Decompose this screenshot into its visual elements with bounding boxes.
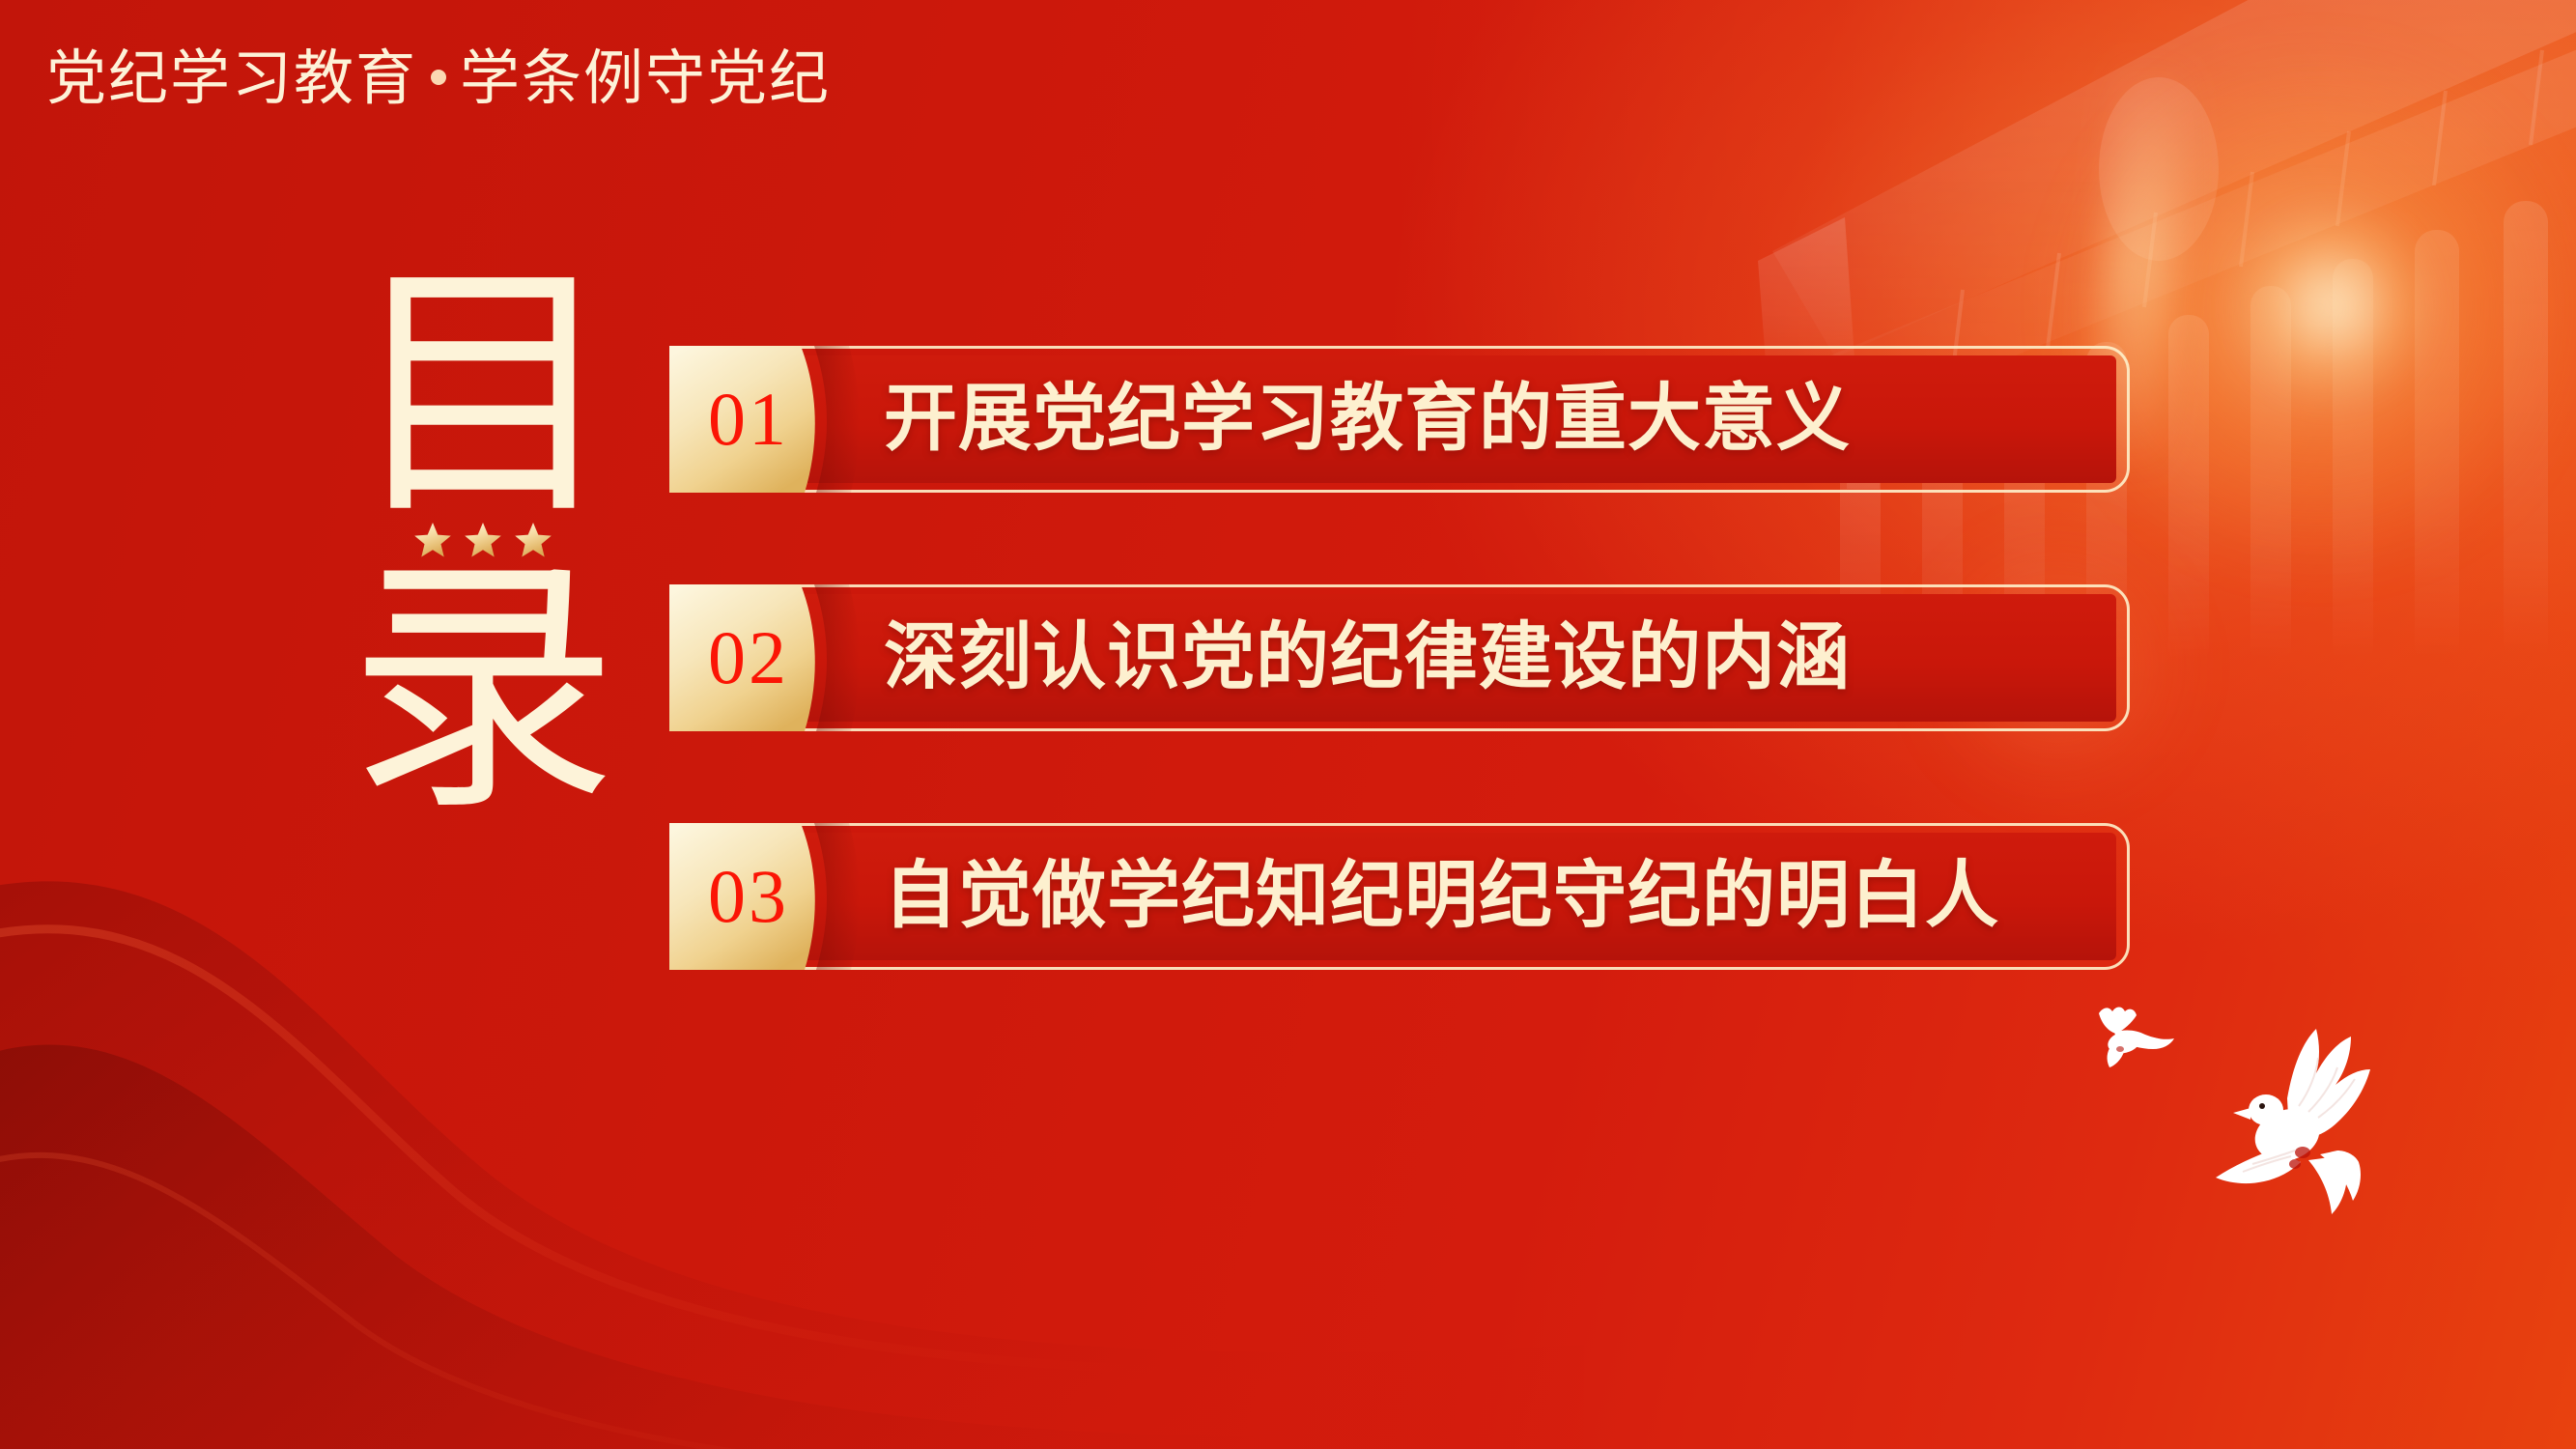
toc-item-number-badge: 02 bbox=[669, 581, 859, 735]
dove-icon bbox=[2081, 1000, 2183, 1087]
light-flare-highlight bbox=[2231, 203, 2434, 406]
mulu-char-lu: 录 bbox=[348, 577, 618, 804]
slide-header: 党纪学习教育学条例守党纪 bbox=[46, 43, 831, 116]
toc-item-number: 03 bbox=[687, 819, 810, 974]
slide-canvas: 党纪学习教育学条例守党纪 目 录 bbox=[0, 0, 2576, 1449]
header-separator-dot bbox=[431, 70, 446, 85]
toc-item-label: 开展党纪学习教育的重大意义 bbox=[884, 346, 1851, 493]
toc-item-number-badge: 03 bbox=[669, 819, 859, 974]
header-title-left: 党纪学习教育 bbox=[46, 45, 417, 112]
toc-item-number-badge: 01 bbox=[669, 342, 859, 497]
header-title: 党纪学习教育学条例守党纪 bbox=[46, 49, 831, 109]
toc-item-02[interactable]: 02 深刻认识党的纪律建设的内涵 bbox=[669, 584, 2130, 731]
toc-item-01[interactable]: 01 开展党纪学习教育的重大意义 bbox=[669, 346, 2130, 493]
toc-item-label: 自觉做学纪知纪明纪守纪的明白人 bbox=[884, 823, 1999, 970]
mulu-char-mu: 目 bbox=[348, 282, 618, 509]
header-title-right: 学条例守党纪 bbox=[460, 45, 831, 112]
toc-item-number: 02 bbox=[687, 581, 810, 735]
toc-item-03[interactable]: 03 自觉做学纪知纪明纪守纪的明白人 bbox=[669, 823, 2130, 970]
toc-item-number: 01 bbox=[687, 342, 810, 497]
dove-icon bbox=[2194, 1019, 2397, 1241]
toc-item-label: 深刻认识党的纪律建设的内涵 bbox=[884, 584, 1851, 731]
table-of-contents: 01 开展党纪学习教育的重大意义 02 深刻认识党的纪律建设的内涵 bbox=[669, 346, 2130, 970]
mulu-wordmark: 目 录 bbox=[328, 282, 637, 958]
